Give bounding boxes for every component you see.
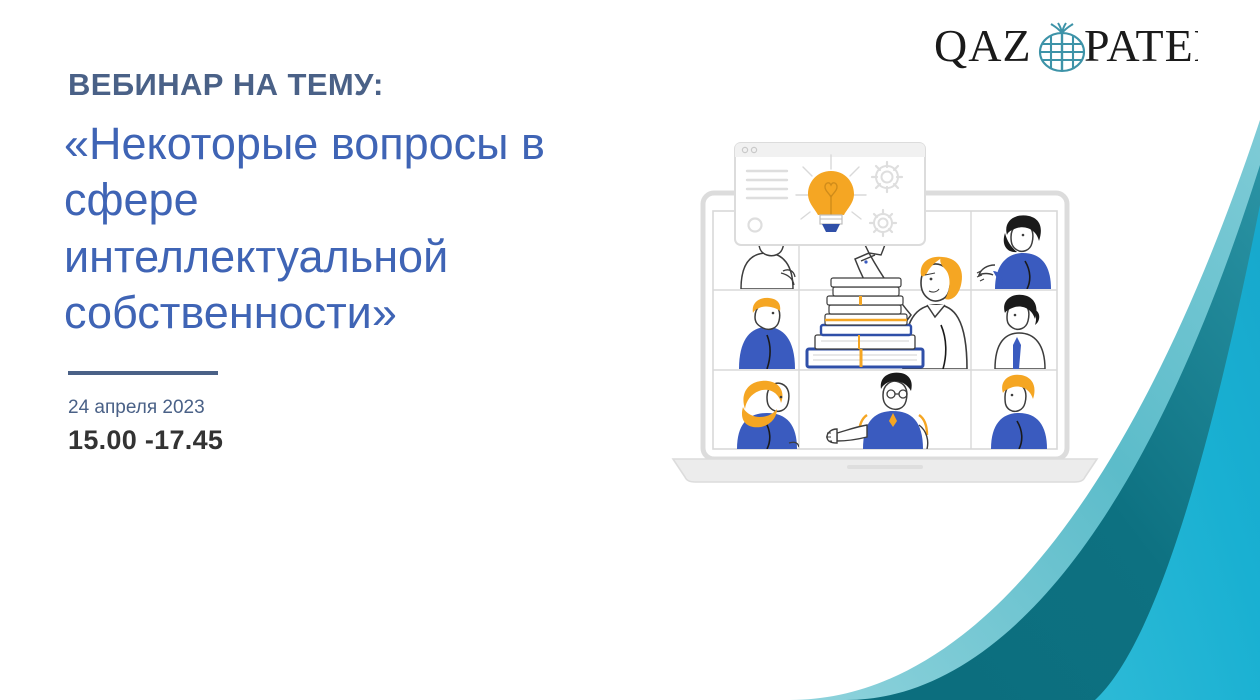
idea-popup-window [735,143,925,245]
webinar-announcement-slide: QAZ PATENT ВЕБИНАР НА ТЕМУ: «Некоторые в [0,0,1260,700]
laptop-trackpad-notch [847,465,923,469]
event-time: 15.00 -17.45 [68,425,628,456]
qazpatent-logo[interactable]: QAZ PATENT [928,18,1198,76]
shanyrak-dome-emblem [1040,23,1084,71]
webinar-illustration [655,125,1115,505]
webinar-kicker: ВЕБИНАР НА ТЕМУ: [68,68,628,102]
text-column: ВЕБИНАР НА ТЕМУ: «Некоторые вопросы в сф… [68,68,628,456]
popup-titlebar [735,143,925,157]
title-divider [68,371,218,375]
swoosh-cyan-band [1095,205,1260,700]
logo-text-qaz: QAZ [934,20,1032,71]
laptop-base [673,459,1097,482]
logo-text-patent: PATENT [1084,20,1198,71]
event-date: 24 апреля 2023 [68,397,628,419]
webinar-title: «Некоторые вопросы в сфере интеллектуаль… [64,116,584,341]
